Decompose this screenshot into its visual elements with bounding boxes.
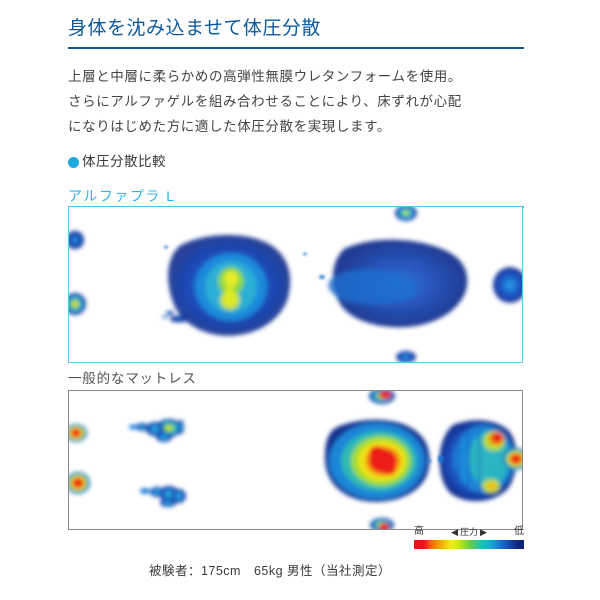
description-text: 上層と中層に柔らかめの高弾性無膜ウレタンフォームを使用。 さらにアルファゲルを組… [68,64,538,139]
legend-low-label: 低 [514,526,524,538]
title-underline [68,47,524,49]
legend-right-arrow-icon: ▶ [480,526,487,538]
legend-color-bar [414,540,524,549]
section-heading-label: 体圧分散比較 [82,152,166,172]
page-root: 身体を沈み込ませて体圧分散 上層と中層に柔らかめの高弾性無膜ウレタンフォームを使… [0,0,600,600]
chart-label-alphapla: アルファプラ L [68,186,176,206]
pressure-map-alphapla [68,207,523,363]
legend-axis: ◀ 圧力 ▶ [424,526,514,538]
bullet-dot-icon [68,157,79,168]
description-line-1: 上層と中層に柔らかめの高弾性無膜ウレタンフォームを使用。 [68,64,538,89]
legend-high-label: 高 [414,526,424,538]
pressure-map-standard [68,390,523,530]
subject-caption: 被験者：175cm 65kg 男性（当社測定） [0,560,600,579]
legend-axis-label: 圧力 [460,526,478,538]
legend-left-arrow-icon: ◀ [451,526,458,538]
chart-label-standard: 一般的なマットレス [68,370,197,388]
page-header: 身体を沈み込ませて体圧分散 [68,14,524,49]
description-line-2: さらにアルファゲルを組み合わせることにより、床ずれが心配 [68,89,538,114]
pressure-heatmap-svg-2 [69,391,522,529]
pressure-heatmap-svg-1 [69,207,522,362]
page-title: 身体を沈み込ませて体圧分散 [68,14,524,44]
section-heading: 体圧分散比較 [68,152,166,172]
pressure-legend: 高 ◀ 圧力 ▶ 低 [414,526,524,549]
legend-labels-row: 高 ◀ 圧力 ▶ 低 [414,526,524,538]
description-line-3: になりはじめた方に適した体圧分散を実現します。 [68,114,538,139]
